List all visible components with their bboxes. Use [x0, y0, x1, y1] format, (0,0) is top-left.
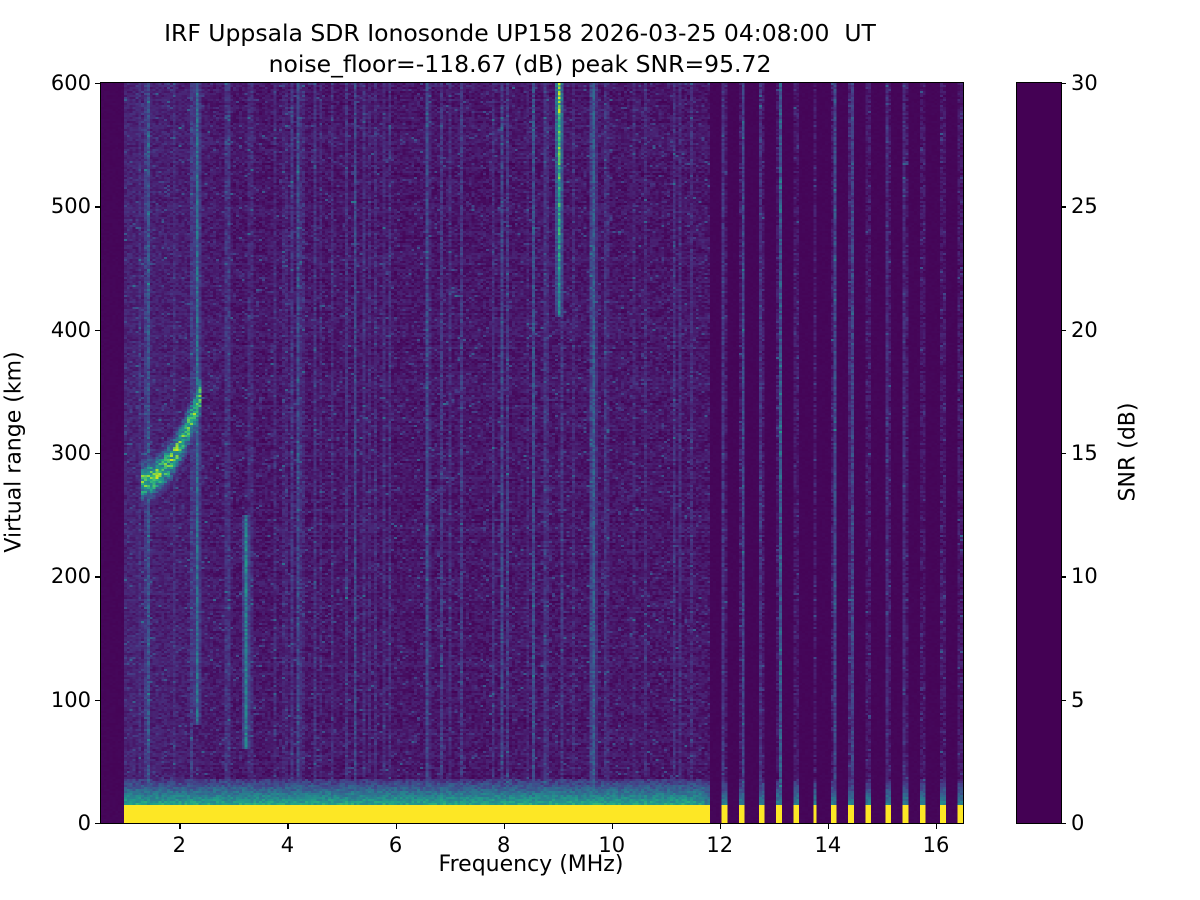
ionogram-axes: 246810121416 0100200300400500600: [100, 82, 964, 824]
x-tick-10: [612, 824, 613, 829]
x-axis-label: Frequency (MHz): [100, 852, 962, 877]
y-tick-300: [95, 453, 100, 454]
colorbar: 051015202530: [1016, 82, 1062, 824]
ionogram-figure: IRF Uppsala SDR Ionosonde UP158 2026-03-…: [0, 0, 1200, 900]
colorbar-tick-label-30: 30: [1071, 71, 1098, 95]
colorbar-tick-label-10: 10: [1071, 564, 1098, 588]
y-tick-label-500: 500: [51, 194, 91, 218]
y-tick-label-600: 600: [51, 71, 91, 95]
x-tick-14: [828, 824, 829, 829]
colorbar-tick-label-0: 0: [1071, 811, 1084, 835]
colorbar-tick-15: [1061, 453, 1066, 454]
y-axis-label: Virtual range (km): [2, 351, 27, 552]
colorbar-tick-label-5: 5: [1071, 688, 1084, 712]
x-tick-6: [396, 824, 397, 829]
colorbar-tick-label-20: 20: [1071, 318, 1098, 342]
x-tick-16: [936, 824, 937, 829]
y-tick-200: [95, 576, 100, 577]
y-tick-label-300: 300: [51, 441, 91, 465]
colorbar-tick-0: [1061, 823, 1066, 824]
y-tick-0: [95, 823, 100, 824]
title-line-secondary: noise_floor=-118.67 (dB) peak SNR=95.72: [0, 49, 1040, 80]
y-tick-label-200: 200: [51, 564, 91, 588]
colorbar-gradient: [1017, 83, 1061, 823]
figure-title: IRF Uppsala SDR Ionosonde UP158 2026-03-…: [0, 18, 1040, 79]
y-tick-600: [95, 83, 100, 84]
colorbar-label: SNR (dB): [1116, 403, 1141, 502]
ionogram-heatmap: [101, 83, 963, 823]
colorbar-tick-5: [1061, 700, 1066, 701]
colorbar-tick-25: [1061, 206, 1066, 207]
y-tick-500: [95, 206, 100, 207]
colorbar-tick-30: [1061, 83, 1066, 84]
y-tick-400: [95, 330, 100, 331]
x-tick-4: [287, 824, 288, 829]
y-tick-label-0: 0: [78, 811, 91, 835]
ionogram-canvas: [101, 83, 963, 823]
x-tick-8: [504, 824, 505, 829]
y-tick-label-400: 400: [51, 318, 91, 342]
colorbar-tick-label-15: 15: [1071, 441, 1098, 465]
colorbar-tick-10: [1061, 576, 1066, 577]
x-tick-12: [720, 824, 721, 829]
colorbar-tick-20: [1061, 330, 1066, 331]
y-tick-label-100: 100: [51, 688, 91, 712]
colorbar-tick-label-25: 25: [1071, 194, 1098, 218]
title-line-primary: IRF Uppsala SDR Ionosonde UP158 2026-03-…: [0, 18, 1040, 49]
y-tick-100: [95, 700, 100, 701]
heatmap-clip: [101, 83, 963, 823]
x-tick-2: [179, 824, 180, 829]
